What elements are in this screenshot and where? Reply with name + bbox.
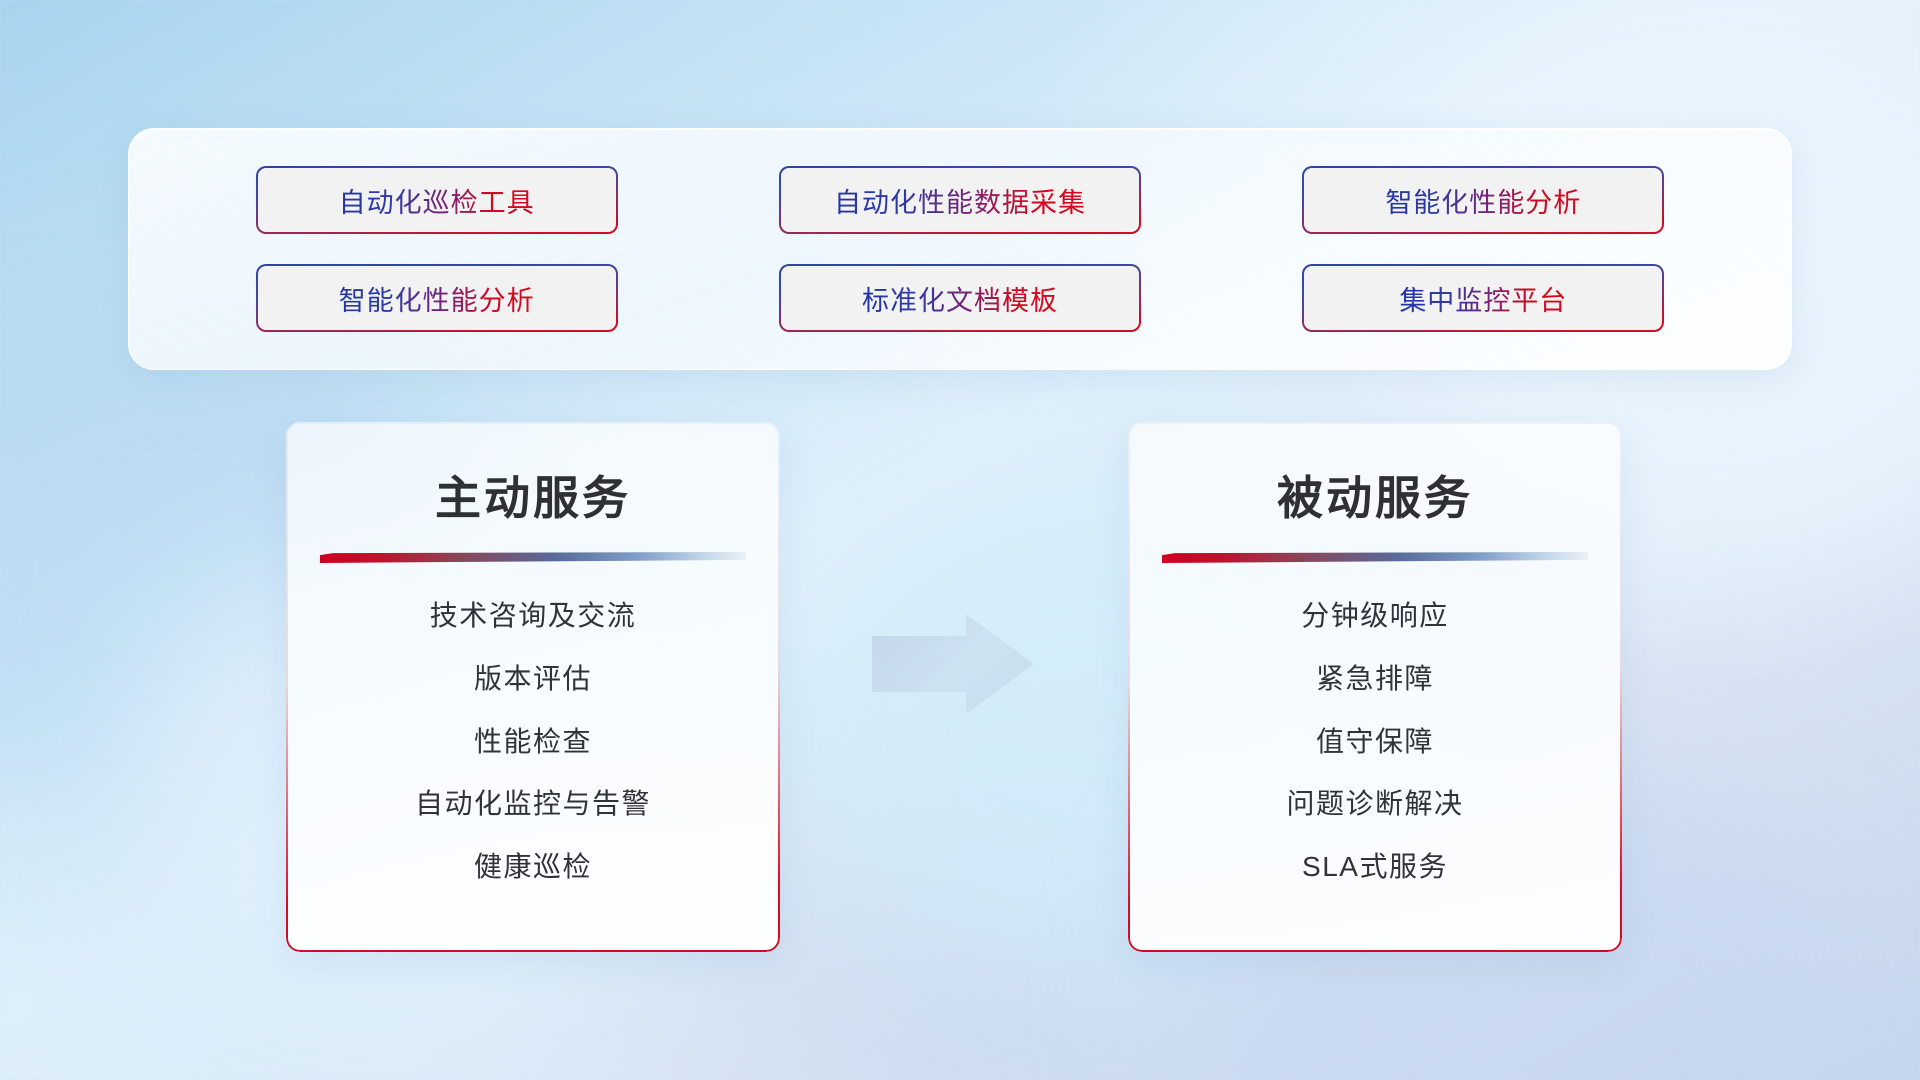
capability-tag-label: 集中监控平台 bbox=[1399, 279, 1567, 318]
capability-tag-3[interactable]: 智能化性能分析 bbox=[258, 266, 616, 330]
capability-tag-box[interactable]: 集中监控平台 bbox=[1304, 266, 1662, 330]
card-title-divider bbox=[1162, 552, 1588, 563]
capability-tag-label: 自动化性能数据采集 bbox=[834, 181, 1086, 220]
capability-tag-label: 标准化文档模板 bbox=[862, 279, 1058, 318]
list-item: 版本评估 bbox=[474, 664, 592, 695]
card-item-list: 技术咨询及交流 版本评估 性能检查 自动化监控与告警 健康巡检 bbox=[320, 601, 746, 883]
service-card-reactive: 被动服务 分钟级响应 紧急排障 值守保障 问题诊断解决 SLA式服务 bbox=[1128, 422, 1622, 952]
capability-tag-box[interactable]: 标准化文档模板 bbox=[781, 266, 1139, 330]
list-item: 自动化监控与告警 bbox=[415, 789, 651, 820]
capability-tags-panel: 自动化巡检工具 自动化性能数据采集 智能化性能分析 智能化性能分析 标准化文档模… bbox=[128, 128, 1792, 370]
card-title: 被动服务 bbox=[1277, 462, 1473, 528]
list-item: 健康巡检 bbox=[474, 852, 592, 883]
capability-tag-4[interactable]: 标准化文档模板 bbox=[781, 266, 1139, 330]
list-item: 分钟级响应 bbox=[1301, 601, 1449, 632]
card-item-list: 分钟级响应 紧急排障 值守保障 问题诊断解决 SLA式服务 bbox=[1162, 601, 1588, 883]
capability-tag-label: 智能化性能分析 bbox=[1385, 181, 1581, 220]
capability-tag-box[interactable]: 自动化性能数据采集 bbox=[781, 168, 1139, 232]
list-item: 性能检查 bbox=[474, 727, 592, 758]
capability-tag-box[interactable]: 自动化巡检工具 bbox=[258, 168, 616, 232]
card-title-divider bbox=[320, 552, 746, 563]
list-item: 值守保障 bbox=[1316, 727, 1434, 758]
list-item: 紧急排障 bbox=[1316, 664, 1434, 695]
arrow-right-icon bbox=[872, 614, 1034, 714]
capability-tag-box[interactable]: 智能化性能分析 bbox=[258, 266, 616, 330]
capability-tag-0[interactable]: 自动化巡检工具 bbox=[258, 168, 616, 232]
card-title: 主动服务 bbox=[435, 462, 631, 528]
capability-tag-5[interactable]: 集中监控平台 bbox=[1304, 266, 1662, 330]
list-item: SLA式服务 bbox=[1302, 852, 1448, 883]
capability-tag-label: 自动化巡检工具 bbox=[339, 181, 535, 220]
capability-tag-2[interactable]: 智能化性能分析 bbox=[1304, 168, 1662, 232]
capability-tag-box[interactable]: 智能化性能分析 bbox=[1304, 168, 1662, 232]
capability-tag-label: 智能化性能分析 bbox=[339, 279, 535, 318]
list-item: 技术咨询及交流 bbox=[430, 601, 637, 632]
list-item: 问题诊断解决 bbox=[1286, 789, 1463, 820]
capability-tag-1[interactable]: 自动化性能数据采集 bbox=[781, 168, 1139, 232]
service-card-proactive: 主动服务 技术咨询及交流 版本评估 性能检查 自动化监控与告警 健康巡检 bbox=[286, 422, 780, 952]
